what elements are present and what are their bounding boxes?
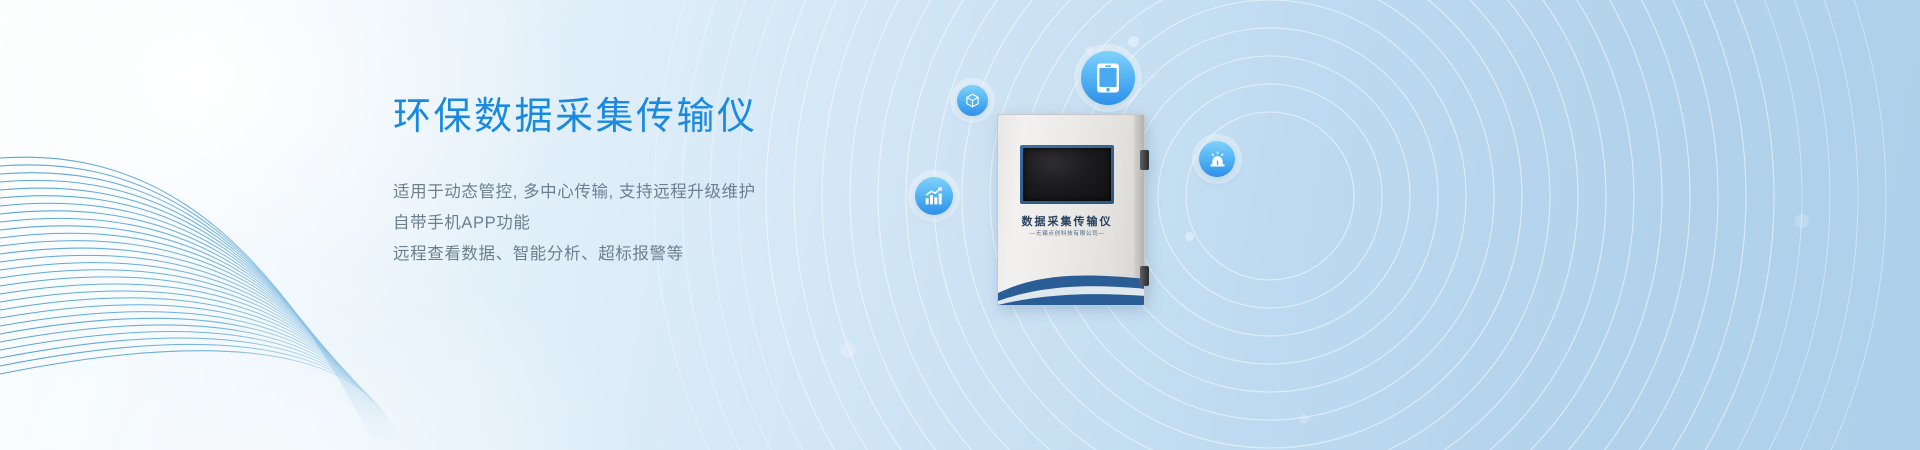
- hero-subtitle-line-2: 自带手机APP功能: [393, 208, 1073, 239]
- product-hero-banner: 环保数据采集传输仪 适用于动态管控, 多中心传输, 支持远程升级维护 自带手机A…: [0, 0, 1920, 450]
- cube-icon[interactable]: [957, 85, 988, 116]
- decor-dot: [1185, 232, 1194, 241]
- device-hinge-top: [1140, 150, 1149, 170]
- hero-subtitle-line-1: 适用于动态管控, 多中心传输, 支持远程升级维护: [393, 177, 1073, 208]
- device-hinge-bottom: [1140, 266, 1149, 286]
- device-wave-graphic: [998, 263, 1144, 305]
- alarm-siren-icon[interactable]: [1199, 141, 1235, 177]
- decor-dot: [1299, 414, 1309, 424]
- hero-subtitle-line-3: 远程查看数据、智能分析、超标报警等: [393, 239, 1073, 270]
- decor-dot: [1085, 46, 1093, 54]
- decor-dot: [840, 342, 856, 358]
- device-model-label: 数据采集传输仪: [998, 213, 1136, 229]
- device-screen: [1023, 148, 1111, 201]
- decor-dot: [1128, 36, 1139, 47]
- decor-dot: [1795, 214, 1809, 228]
- device-screen-bezel: [1020, 145, 1114, 204]
- hero-subtitle-list: 适用于动态管控, 多中心传输, 支持远程升级维护 自带手机APP功能 远程查看数…: [393, 177, 1073, 270]
- hero-copy: 环保数据采集传输仪 适用于动态管控, 多中心传输, 支持远程升级维护 自带手机A…: [393, 96, 1073, 270]
- device-company-label: —无锡点创科技有限公司—: [1001, 228, 1133, 237]
- mobile-phone-icon[interactable]: [1081, 51, 1135, 105]
- background-glow-bottom-left: [0, 250, 640, 450]
- device-enclosure: 数据采集传输仪 —无锡点创科技有限公司—: [997, 114, 1145, 306]
- product-device-image: 数据采集传输仪 —无锡点创科技有限公司—: [997, 114, 1145, 306]
- bar-chart-icon[interactable]: [915, 177, 953, 215]
